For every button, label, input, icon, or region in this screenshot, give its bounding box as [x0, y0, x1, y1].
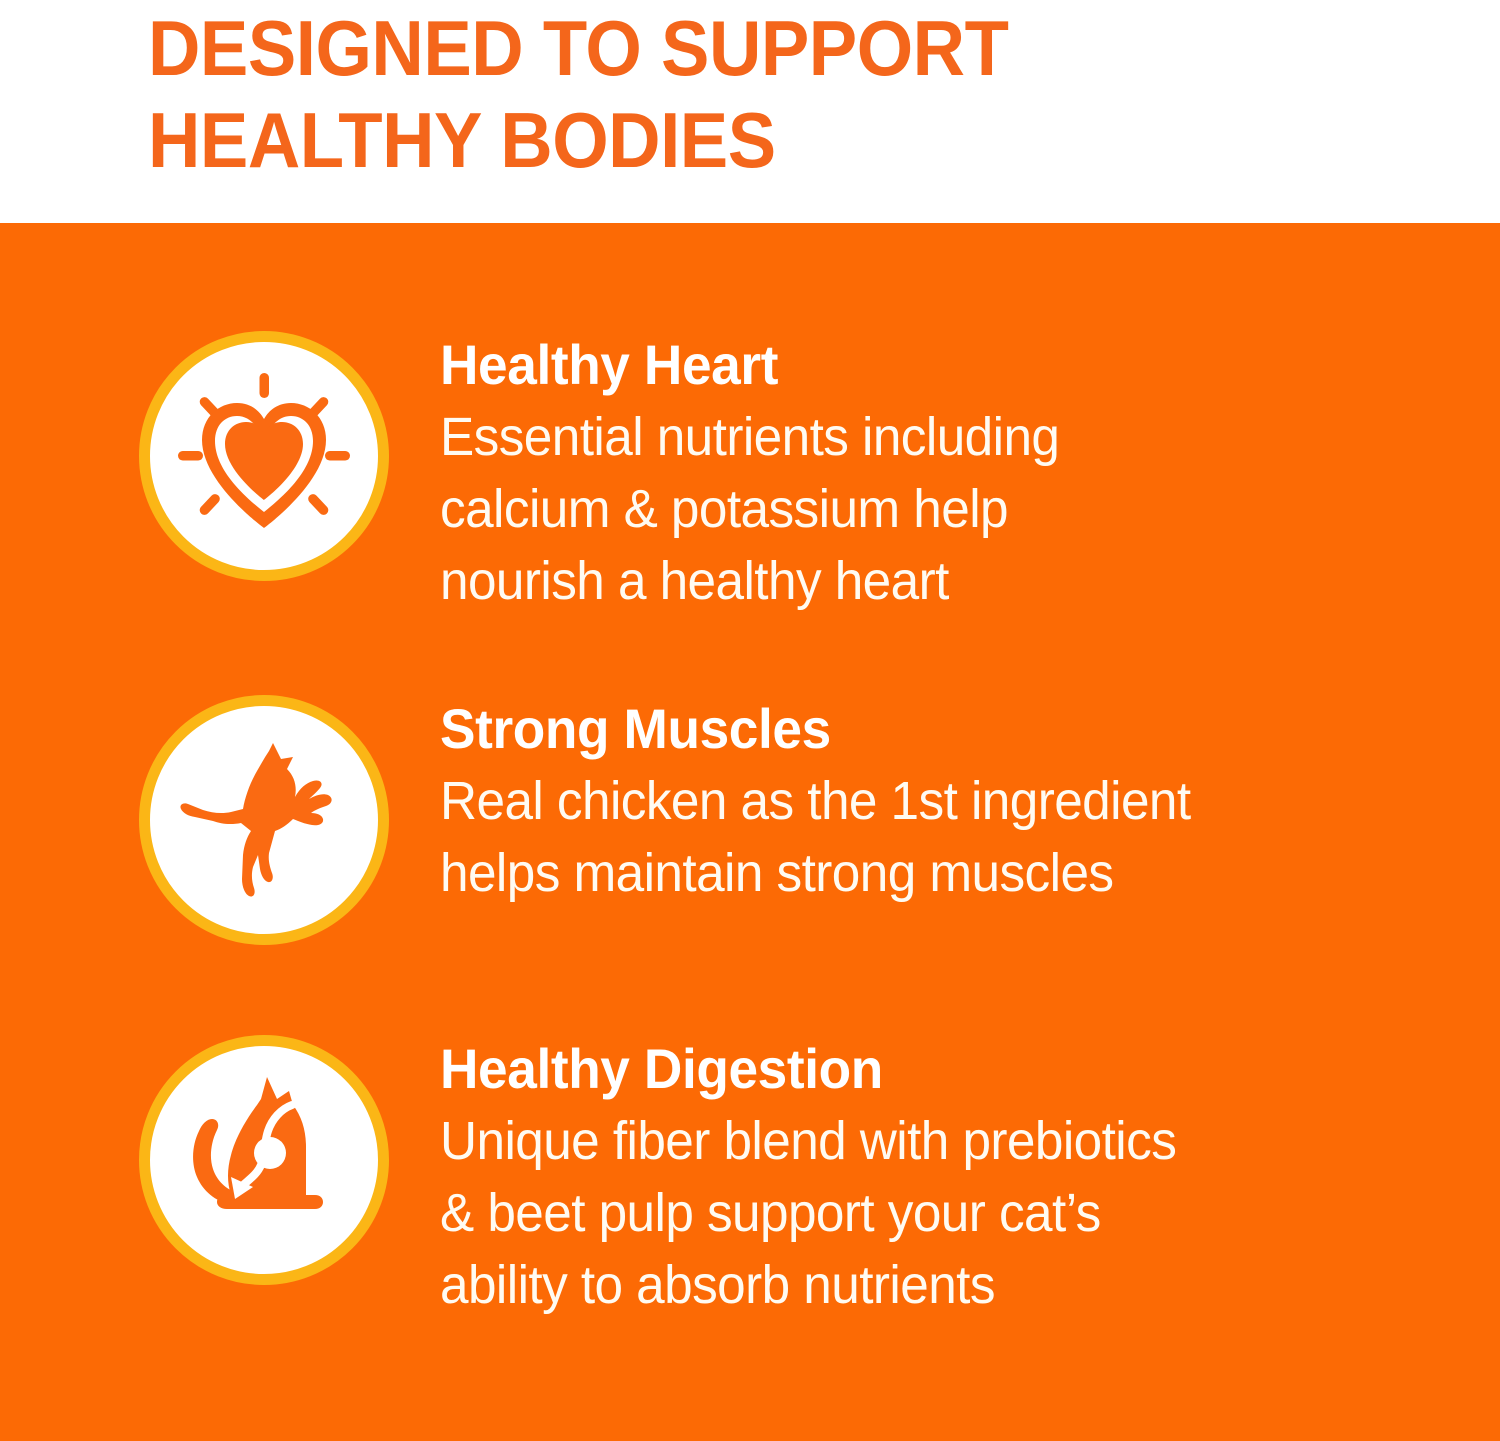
icon-badge-healthy-digestion	[139, 1035, 389, 1285]
feature-body: Unique fiber blend with prebiotics & bee…	[440, 1105, 1176, 1321]
feature-row-strong-muscles: Strong Muscles Real chicken as the 1st i…	[0, 695, 1500, 945]
feature-row-healthy-digestion: Healthy Digestion Unique fiber blend wit…	[0, 1035, 1500, 1321]
orange-content-panel: Healthy Heart Essential nutrients includ…	[0, 223, 1500, 1441]
promo-panel: DESIGNED TO SUPPORT HEALTHY BODIES	[0, 0, 1500, 1441]
feature-title: Healthy Digestion	[440, 1039, 1176, 1099]
feature-title: Healthy Heart	[440, 335, 1059, 395]
page-title: DESIGNED TO SUPPORT HEALTHY BODIES	[148, 2, 1405, 186]
icon-badge-healthy-heart	[139, 331, 389, 581]
feature-text-healthy-digestion: Healthy Digestion Unique fiber blend wit…	[440, 1035, 1215, 1321]
feature-row-healthy-heart: Healthy Heart Essential nutrients includ…	[0, 331, 1500, 617]
feature-title: Strong Muscles	[440, 699, 1191, 759]
header-band: DESIGNED TO SUPPORT HEALTHY BODIES	[0, 0, 1500, 223]
icon-badge-strong-muscles	[139, 695, 389, 945]
feature-text-healthy-heart: Healthy Heart Essential nutrients includ…	[440, 331, 1092, 617]
feature-body: Real chicken as the 1st ingredient helps…	[440, 765, 1191, 909]
feature-text-strong-muscles: Strong Muscles Real chicken as the 1st i…	[440, 695, 1230, 909]
feature-body: Essential nutrients including calcium & …	[440, 401, 1059, 617]
leaping-cat-icon	[169, 725, 359, 915]
radiant-heart-icon	[169, 361, 359, 551]
sitting-cat-digestion-icon	[169, 1065, 359, 1255]
